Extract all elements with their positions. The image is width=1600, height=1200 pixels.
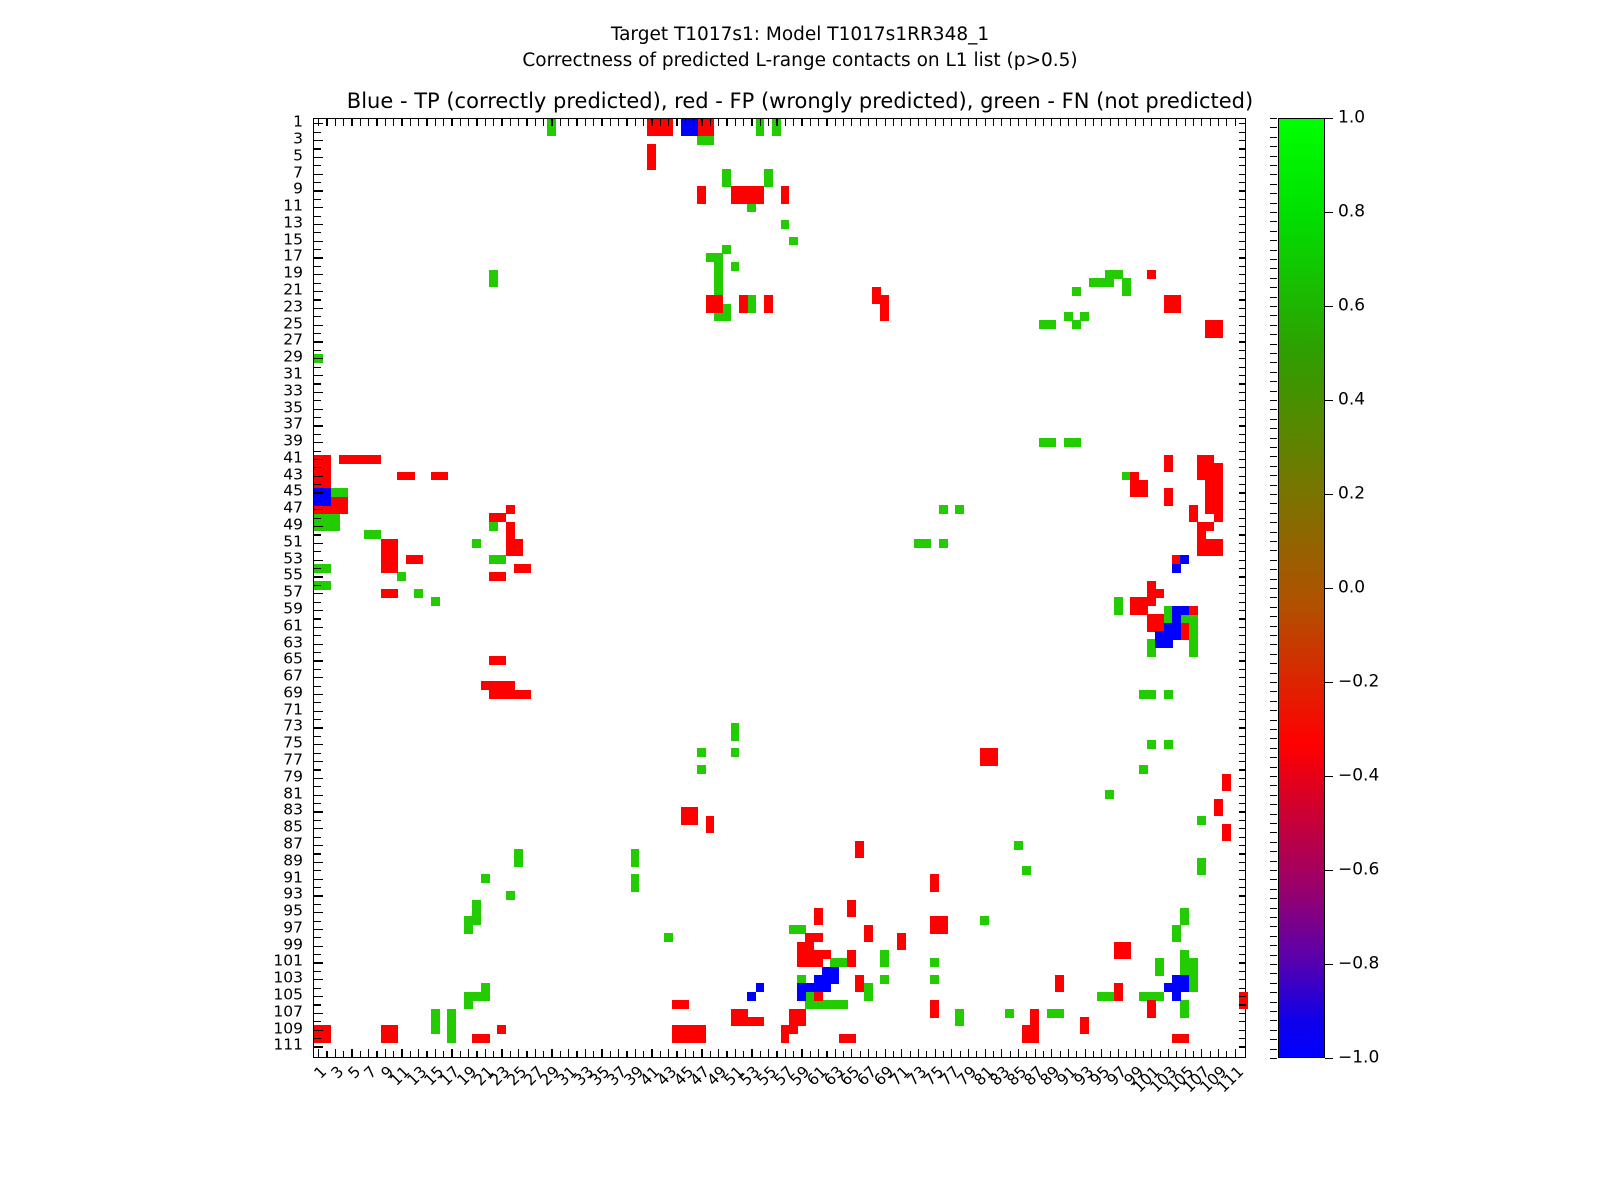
x-tick-top [426, 119, 427, 126]
y-tick-right [1239, 996, 1246, 997]
x-tick [876, 1051, 877, 1058]
y-axis-tick-label: 107 [273, 1004, 303, 1020]
contact-cell-fp [1189, 513, 1198, 522]
y-tick-right [1239, 148, 1246, 149]
colorbar-minor-tick [1270, 250, 1277, 251]
y-tick-right [1239, 1013, 1246, 1014]
y-tick [314, 1038, 321, 1039]
y-tick [314, 660, 323, 661]
contact-cell-fp [389, 564, 398, 573]
y-tick-right [1239, 165, 1246, 166]
y-tick-right [1239, 375, 1246, 376]
x-tick [701, 1049, 702, 1058]
y-tick-right [1239, 232, 1246, 233]
x-tick [1176, 1051, 1177, 1058]
y-axis-tick-label: 5 [293, 148, 303, 164]
contact-cell-fn [789, 237, 798, 246]
x-tick [1210, 1051, 1211, 1058]
y-tick-right [1239, 442, 1246, 443]
y-tick [314, 560, 323, 561]
y-tick-right [1239, 811, 1246, 812]
x-tick [660, 1051, 661, 1058]
y-axis-tick-label: 11 [283, 198, 303, 214]
contact-cell-fn [880, 958, 889, 967]
y-tick [314, 585, 321, 586]
x-tick-top [660, 119, 661, 126]
y-tick [314, 182, 321, 183]
y-tick-right [1239, 736, 1246, 737]
y-tick-right [1239, 341, 1246, 342]
colorbar-minor-tick [1270, 475, 1277, 476]
y-tick [314, 644, 323, 645]
colorbar-minor-tick [1270, 438, 1277, 439]
colorbar-tick-label: 0.4 [1338, 392, 1365, 409]
y-tick-right [1239, 367, 1246, 368]
x-tick-top [585, 119, 586, 126]
y-tick [314, 929, 323, 930]
y-tick-right [1239, 610, 1246, 611]
y-tick-right [1239, 778, 1246, 779]
contact-cell-fp [1164, 497, 1173, 506]
contact-cell-fn [1189, 648, 1198, 657]
colorbar-tick-label: −1.0 [1338, 1050, 1379, 1067]
y-tick-right [1239, 199, 1246, 200]
contact-cell-fn [756, 127, 765, 136]
contact-cell-fp [855, 983, 864, 992]
contact-cell-fp [1214, 807, 1223, 816]
y-tick [314, 962, 323, 963]
y-tick [314, 157, 323, 158]
y-axis-tick-label: 73 [283, 719, 303, 735]
y-tick [314, 207, 323, 208]
colorbar-minor-tick [1270, 785, 1277, 786]
contact-cell-tp [1164, 639, 1173, 648]
contact-cell-fn [1047, 320, 1056, 329]
x-tick-top [1126, 119, 1127, 126]
contact-cell-tp [747, 992, 756, 1001]
y-tick [314, 618, 321, 619]
x-tick-top [376, 119, 377, 126]
y-axis-tick-label: 49 [283, 517, 303, 533]
contact-cell-fn [1155, 992, 1164, 1001]
x-tick [926, 1051, 927, 1058]
y-axis-tick-label: 57 [283, 584, 303, 600]
x-tick-top [1193, 119, 1194, 126]
y-tick [314, 299, 321, 300]
x-tick [593, 1051, 594, 1058]
colorbar-minor-tick [1270, 428, 1277, 429]
y-tick-right [1239, 904, 1246, 905]
y-axis-tick-label: 19 [283, 266, 303, 282]
contact-cell-fn [481, 992, 490, 1001]
contact-cell-fn [1147, 648, 1156, 657]
y-axis-tick-label: 31 [283, 366, 303, 382]
colorbar-minor-tick [1270, 597, 1277, 598]
contact-cell-fp [681, 1000, 690, 1009]
contact-cell-fp [647, 161, 656, 170]
contact-cell-fn [731, 262, 740, 271]
y-tick [314, 1046, 323, 1047]
y-tick-right [1239, 635, 1246, 636]
x-tick-top [626, 119, 627, 126]
colorbar-minor-tick [1270, 447, 1277, 448]
x-tick [935, 1049, 936, 1058]
y-axis-tick-label: 37 [283, 417, 303, 433]
contact-cell-fn [1189, 967, 1198, 976]
contact-cell-fn [939, 505, 948, 514]
y-tick [314, 635, 321, 636]
colorbar-minor-tick [1270, 673, 1277, 674]
x-tick [1151, 1049, 1152, 1058]
contact-cell-fp [522, 564, 531, 573]
x-tick [843, 1051, 844, 1058]
x-tick-top [1201, 119, 1202, 126]
y-tick [314, 316, 321, 317]
y-tick-right [1239, 316, 1246, 317]
contact-cell-tp [1172, 564, 1181, 573]
y-tick [314, 1030, 323, 1031]
x-tick-top [668, 119, 669, 126]
contact-cell-fp [497, 572, 506, 581]
y-tick-right [1239, 207, 1246, 208]
contact-cell-fp [855, 849, 864, 858]
x-tick-top [351, 119, 352, 126]
x-tick [618, 1049, 619, 1058]
colorbar-minor-tick [1270, 710, 1277, 711]
contact-cell-fp [1197, 472, 1206, 481]
colorbar-minor-tick [1270, 1058, 1277, 1059]
contact-cell-fn [1139, 765, 1148, 774]
colorbar-minor-tick [1270, 541, 1277, 542]
x-tick [968, 1049, 969, 1058]
contact-cell-fn [1164, 690, 1173, 699]
x-tick-top [510, 119, 511, 126]
y-tick-right [1239, 912, 1246, 913]
x-tick-top [501, 119, 502, 126]
colorbar-minor-tick [1270, 757, 1277, 758]
colorbar-tick-label: 0.6 [1338, 298, 1365, 315]
figure-root: Target T1017s1: Model T1017s1RR348_1 Cor… [0, 0, 1600, 1200]
x-tick [1235, 1049, 1236, 1058]
colorbar-minor-tick [1270, 146, 1277, 147]
contact-cell-fn [464, 1000, 473, 1009]
y-tick [314, 484, 321, 485]
x-tick [993, 1051, 994, 1058]
y-tick-right [1239, 476, 1246, 477]
y-tick-right [1239, 266, 1246, 267]
y-axis-labels: 1357911131517192123252729313335373941434… [0, 118, 313, 1058]
x-tick [1026, 1051, 1027, 1058]
y-tick [314, 610, 323, 611]
colorbar-minor-tick [1270, 381, 1277, 382]
y-tick-right [1239, 946, 1246, 947]
y-tick [314, 392, 323, 393]
y-axis-tick-label: 15 [283, 232, 303, 248]
y-tick [314, 568, 321, 569]
x-tick [651, 1049, 652, 1058]
x-tick [776, 1051, 777, 1058]
y-tick [314, 702, 321, 703]
y-tick [314, 266, 321, 267]
contact-cell-fn [1105, 278, 1114, 287]
y-tick [314, 291, 323, 292]
contact-cell-fn [731, 732, 740, 741]
contact-cell-fp [522, 690, 531, 699]
colorbar-minor-tick [1270, 240, 1277, 241]
contact-cell-fp [322, 1034, 331, 1043]
y-tick [314, 837, 321, 838]
colorbar-minor-tick [1270, 701, 1277, 702]
y-tick-right [1239, 652, 1246, 653]
x-tick [868, 1049, 869, 1058]
colorbar-minor-tick [1270, 870, 1277, 871]
x-tick-top [751, 119, 752, 126]
y-tick [314, 534, 321, 535]
y-axis-tick-label: 77 [283, 752, 303, 768]
contact-cell-fn [1189, 958, 1198, 967]
contact-cell-fn [1147, 690, 1156, 699]
y-tick [314, 895, 323, 896]
contact-cell-fp [1030, 1034, 1039, 1043]
contact-cell-fn [880, 975, 889, 984]
y-axis-tick-label: 81 [283, 786, 303, 802]
contact-cell-fn [722, 245, 731, 254]
colorbar-minor-tick [1270, 372, 1277, 373]
contact-cell-fn [1164, 740, 1173, 749]
contact-cell-fn [714, 270, 723, 279]
y-axis-tick-label: 75 [283, 736, 303, 752]
y-tick-right [1239, 744, 1246, 745]
colorbar-minor-tick [1270, 137, 1277, 138]
contact-cell-fp [506, 505, 515, 514]
y-tick-right [1239, 459, 1246, 460]
contact-cell-fn [722, 312, 731, 321]
y-tick [314, 174, 323, 175]
contact-cell-fn [930, 975, 939, 984]
contact-cell-fn [414, 589, 423, 598]
contact-cell-fn [464, 925, 473, 934]
y-tick [314, 879, 323, 880]
contact-cell-fp [1214, 513, 1223, 522]
colorbar-minor-tick [1270, 776, 1277, 777]
x-tick [1018, 1049, 1019, 1058]
y-tick-right [1239, 467, 1246, 468]
contact-cell-fn [514, 858, 523, 867]
colorbar-gradient [1278, 118, 1325, 1058]
colorbar-minor-tick [1270, 278, 1277, 279]
y-tick [314, 862, 323, 863]
y-tick-right [1239, 560, 1246, 561]
x-tick [635, 1049, 636, 1058]
colorbar-tick [1325, 400, 1333, 401]
y-tick [314, 769, 321, 770]
y-tick-right [1239, 669, 1246, 670]
colorbar-tick [1325, 588, 1333, 589]
colorbar-minor-tick [1270, 1011, 1277, 1012]
contact-cell-tp [1180, 606, 1189, 615]
y-tick-right [1239, 543, 1246, 544]
contact-cell-fn [1055, 1009, 1064, 1018]
x-tick [526, 1051, 527, 1058]
contact-cell-fn [772, 127, 781, 136]
colorbar-minor-tick [1270, 353, 1277, 354]
x-tick-top [526, 119, 527, 126]
contact-cell-fp [814, 933, 823, 942]
x-tick-top [935, 119, 936, 126]
x-tick [318, 1049, 319, 1058]
x-tick-top [1026, 119, 1027, 126]
y-tick-right [1239, 761, 1246, 762]
x-tick [685, 1049, 686, 1058]
y-tick-right [1239, 358, 1246, 359]
y-tick [314, 165, 321, 166]
y-axis-tick-label: 3 [293, 131, 303, 147]
x-tick-top [543, 119, 544, 126]
y-tick [314, 686, 321, 687]
contact-cell-fp [1214, 329, 1223, 338]
x-tick [418, 1049, 419, 1058]
x-tick-top [643, 119, 644, 126]
y-tick-right [1239, 425, 1246, 426]
x-tick-top [618, 119, 619, 126]
colorbar-tick [1325, 964, 1333, 965]
x-tick [510, 1051, 511, 1058]
y-tick-right [1239, 568, 1246, 569]
y-tick [314, 140, 323, 141]
contact-cell-fn [955, 505, 964, 514]
y-tick-right [1239, 417, 1246, 418]
y-tick [314, 1013, 323, 1014]
colorbar-minor-tick [1270, 315, 1277, 316]
x-tick-top [776, 119, 777, 126]
contact-cell-fn [431, 597, 440, 606]
x-tick-top [1185, 119, 1186, 126]
x-tick [901, 1049, 902, 1058]
contact-cell-fp [930, 883, 939, 892]
contact-map-plot[interactable] [313, 118, 1246, 1058]
x-tick-top [435, 119, 436, 126]
colorbar-minor-tick [1270, 522, 1277, 523]
y-axis-tick-label: 21 [283, 282, 303, 298]
x-tick-top [1135, 119, 1136, 126]
contact-cell-fn [472, 539, 481, 548]
colorbar-minor-tick [1270, 409, 1277, 410]
y-tick [314, 988, 321, 989]
x-tick-top [385, 119, 386, 126]
y-tick-right [1239, 484, 1246, 485]
y-tick-right [1239, 870, 1246, 871]
colorbar-tick-label: −0.8 [1338, 956, 1379, 973]
contact-cell-fn [447, 1017, 456, 1026]
colorbar-minor-tick [1270, 738, 1277, 739]
x-tick [1201, 1049, 1202, 1058]
y-axis-tick-label: 43 [283, 467, 303, 483]
x-tick-top [801, 119, 802, 126]
y-axis-tick-label: 99 [283, 937, 303, 953]
x-tick [710, 1051, 711, 1058]
y-tick-right [1239, 383, 1246, 384]
contact-cell-fn [631, 858, 640, 867]
y-axis-tick-label: 7 [293, 165, 303, 181]
x-axis-labels: 1357911131517192123252729313335373941434… [313, 1058, 1273, 1178]
x-tick-top [1010, 119, 1011, 126]
y-tick [314, 652, 321, 653]
x-tick [468, 1049, 469, 1058]
contact-cell-fp [1122, 950, 1131, 959]
contact-cell-tp [822, 983, 831, 992]
contact-cell-fn [1180, 916, 1189, 925]
contact-cell-fn [1005, 1009, 1014, 1018]
y-axis-tick-label: 91 [283, 870, 303, 886]
y-tick-right [1239, 702, 1246, 703]
y-tick [314, 937, 321, 938]
x-tick-top [1168, 119, 1169, 126]
x-tick [351, 1049, 352, 1058]
y-tick [314, 241, 323, 242]
y-tick [314, 954, 321, 955]
colorbar-minor-tick [1270, 212, 1277, 213]
x-tick-top [926, 119, 927, 126]
colorbar-minor-tick [1270, 297, 1277, 298]
contact-cell-fp [1214, 488, 1223, 497]
colorbar-minor-tick [1270, 485, 1277, 486]
contact-cell-fp [847, 1034, 856, 1043]
x-tick [1093, 1051, 1094, 1058]
x-tick [1068, 1049, 1069, 1058]
y-tick-right [1239, 274, 1246, 275]
y-tick [314, 870, 321, 871]
x-tick [793, 1051, 794, 1058]
y-tick [314, 786, 321, 787]
y-axis-tick-label: 9 [293, 182, 303, 198]
colorbar-minor-tick [1270, 513, 1277, 514]
contact-cell-tp [689, 127, 698, 136]
contact-cell-fp [339, 505, 348, 514]
contact-cell-fp [756, 1017, 765, 1026]
contact-cell-fp [439, 472, 448, 481]
y-tick [314, 551, 321, 552]
y-tick-right [1239, 492, 1246, 493]
y-tick [314, 383, 321, 384]
x-tick-top [368, 119, 369, 126]
y-tick-right [1239, 1021, 1246, 1022]
x-tick [835, 1049, 836, 1058]
x-tick-top [493, 119, 494, 126]
x-tick-top [851, 119, 852, 126]
colorbar-minor-tick [1270, 767, 1277, 768]
contact-cell-fp [1172, 304, 1181, 313]
y-axis-tick-label: 95 [283, 903, 303, 919]
colorbar-tick [1325, 1058, 1333, 1059]
y-axis-tick-label: 101 [273, 954, 303, 970]
y-axis-tick-label: 51 [283, 534, 303, 550]
y-tick [314, 996, 323, 997]
x-tick-top [960, 119, 961, 126]
x-tick [443, 1051, 444, 1058]
contact-cell-fn [547, 127, 556, 136]
x-tick-top [1110, 119, 1111, 126]
contact-cell-fn [397, 572, 406, 581]
x-tick-top [876, 119, 877, 126]
x-tick-top [710, 119, 711, 126]
colorbar-tick [1325, 306, 1333, 307]
contact-cell-fn [1105, 790, 1114, 799]
x-tick-top [1218, 119, 1219, 126]
colorbar-minor-tick [1270, 1030, 1277, 1031]
contact-cell-fp [1139, 488, 1148, 497]
x-tick [518, 1049, 519, 1058]
y-tick [314, 543, 323, 544]
